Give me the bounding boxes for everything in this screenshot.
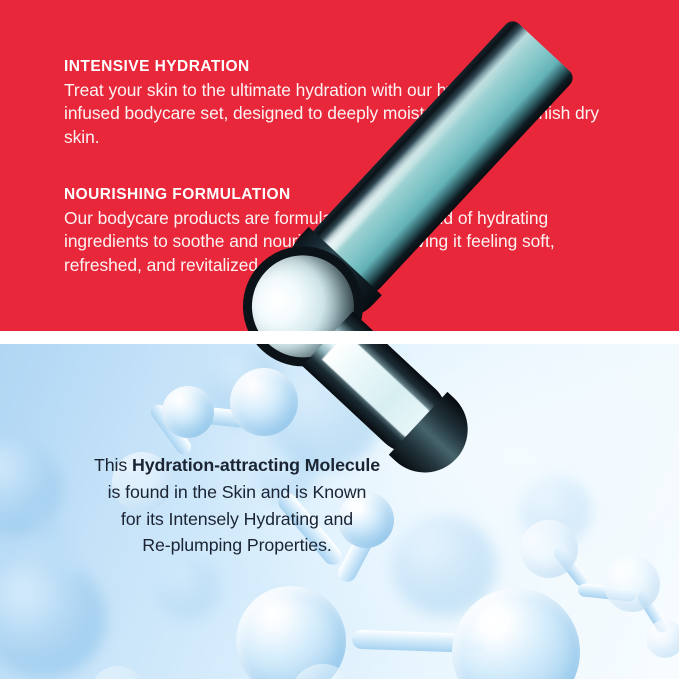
claim-line-1-prefix: This [94,455,132,475]
molecule-sphere-8 [604,556,660,612]
claim-line-1-bold: Hydration-attracting Molecule [132,455,380,475]
molecule-sphere-11 [90,666,146,679]
molecule-blob-bg-8 [156,558,220,620]
white-divider [0,331,679,344]
molecule-claim-text: This Hydration-attracting Molecule is fo… [42,452,432,559]
molecule-sphere-7 [520,520,578,578]
claim-line-4: Re-plumping Properties. [142,535,331,555]
claim-line-2: is found in the Skin and is Known [108,482,367,502]
molecule-sphere-1 [162,386,214,438]
claim-line-3: for its Intensely Hydrating and [121,509,353,529]
product-feature-image: This Hydration-attracting Molecule is fo… [0,0,679,679]
molecule-blob-bg-2 [0,558,106,678]
molecule-sphere-9 [646,620,679,658]
molecule-sphere-2 [230,368,298,436]
